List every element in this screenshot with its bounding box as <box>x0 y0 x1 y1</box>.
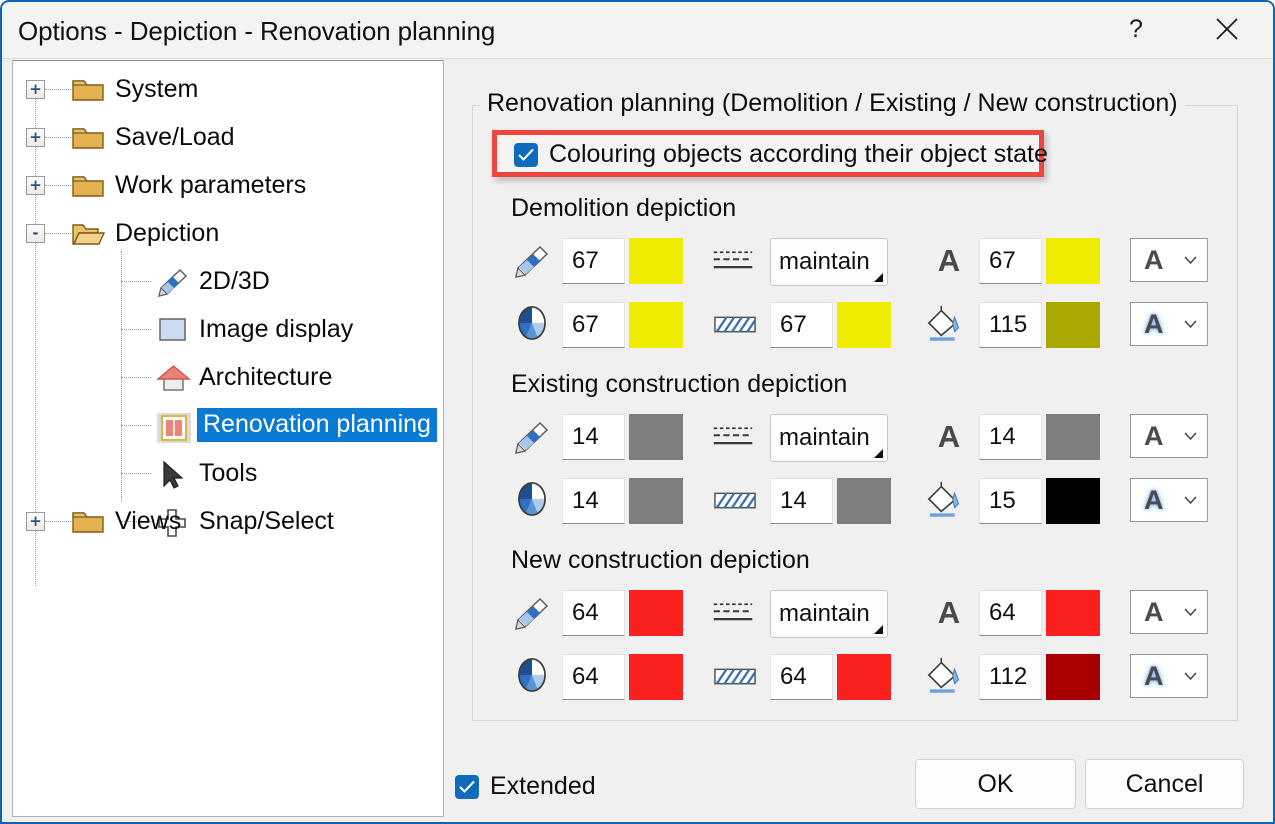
pen-width-input[interactable]: 14 <box>562 414 625 460</box>
linestyle-icon-cell <box>712 416 754 458</box>
colouring-objects-checkbox[interactable]: Colouring objects according their object… <box>514 140 1048 169</box>
tree-expander-system[interactable]: + <box>26 80 45 99</box>
sidebar-item-save-load[interactable]: Save/Load <box>71 117 235 157</box>
hatch-width-input[interactable]: 67 <box>770 302 833 348</box>
sidebar-item-tools[interactable]: Tools <box>155 453 257 493</box>
chevron-down-icon <box>1183 255 1198 265</box>
chevron-down-icon <box>874 273 883 282</box>
tree-connector <box>45 89 71 91</box>
text-icon-cell: A <box>928 592 970 634</box>
sidebar-item-label: Views <box>115 507 181 536</box>
hatch-color-swatch[interactable] <box>837 302 891 348</box>
sidebar-item-label: Save/Load <box>115 123 235 152</box>
bucket-icon-cell <box>926 654 968 696</box>
close-icon <box>1214 16 1240 42</box>
tree-connector <box>45 521 71 523</box>
sidebar-item-label: Depiction <box>115 219 219 248</box>
checkbox-checked-icon <box>514 143 538 167</box>
sidebar-item-image-display[interactable]: Image display <box>155 309 353 349</box>
font-A-icon: A <box>1144 485 1164 516</box>
bucket-color-swatch[interactable] <box>1046 654 1100 700</box>
line-style-icon <box>712 597 754 629</box>
chevron-down-icon <box>874 625 883 634</box>
sidebar-item-label: Architecture <box>199 363 332 392</box>
sidebar-item-architecture[interactable]: Architecture <box>155 357 332 397</box>
pen-width-input[interactable]: 64 <box>562 590 625 636</box>
chevron-down-icon <box>1183 319 1198 329</box>
sidebar-item-label: System <box>115 75 198 104</box>
color-wheel-icon <box>515 304 549 342</box>
tree-connector <box>121 281 151 283</box>
tree-connector <box>121 473 151 475</box>
sidebar-item-label: 2D/3D <box>199 267 270 296</box>
hatch-color-swatch[interactable] <box>837 478 891 524</box>
line-style-value: maintain <box>779 600 870 628</box>
font-A-icon: A <box>1144 597 1164 628</box>
sidebar-item-label: Snap/Select <box>199 507 334 536</box>
pen-icon-cell <box>511 240 553 282</box>
tree-connector <box>121 329 151 331</box>
font-A-icon: A <box>1144 421 1164 452</box>
pen-icon-cell <box>511 416 553 458</box>
hatch-pattern-icon <box>714 666 756 688</box>
chevron-down-icon <box>1183 431 1198 441</box>
plus-icon: + <box>29 82 42 97</box>
tree-expander-saveload[interactable]: + <box>26 128 45 147</box>
close-button[interactable] <box>1198 2 1256 56</box>
chevron-down-icon <box>1183 495 1198 505</box>
hatch-width-input[interactable]: 14 <box>770 478 833 524</box>
pen-color-swatch[interactable] <box>629 414 683 460</box>
line-style-icon <box>712 245 754 277</box>
fill-width-input[interactable]: 67 <box>562 302 625 348</box>
checkbox-checked-icon <box>455 775 479 799</box>
minus-icon: - <box>32 226 38 241</box>
line-style-icon <box>712 421 754 453</box>
paint-bucket-icon <box>926 654 968 696</box>
house-icon <box>155 363 189 391</box>
font-select-bottom[interactable]: A <box>1130 654 1208 698</box>
window-title: Options - Depiction - Renovation plannin… <box>18 16 495 47</box>
line-style-select[interactable]: maintain <box>770 414 888 462</box>
font-select-bottom[interactable]: A <box>1130 302 1208 346</box>
pencil-icon <box>513 420 551 454</box>
checkbox-label: Extended <box>490 772 596 801</box>
fill-color-swatch[interactable] <box>629 654 683 700</box>
text-pen-input[interactable]: 14 <box>979 414 1042 460</box>
font-select-top[interactable]: A <box>1130 238 1208 282</box>
linestyle-icon-cell <box>712 592 754 634</box>
sidebar-item-label: Renovation planning <box>197 408 437 442</box>
tree-expander-workparameters[interactable]: + <box>26 176 45 195</box>
fill-icon-cell <box>511 478 553 520</box>
text-icon-cell: A <box>928 416 970 458</box>
tree-expander-depiction[interactable]: - <box>26 224 45 243</box>
image-display-icon <box>155 315 189 343</box>
pen-icon-cell <box>511 592 553 634</box>
tree-connector <box>121 377 151 379</box>
pen-color-swatch[interactable] <box>629 238 683 284</box>
hatch-pattern-icon <box>714 314 756 336</box>
section-title-new-construction: New construction depiction <box>511 546 810 575</box>
bucket-pen-input[interactable]: 112 <box>979 654 1042 700</box>
bucket-icon-cell <box>926 478 968 520</box>
pencil-icon <box>513 596 551 630</box>
sidebar-item-snap-select[interactable]: Snap/Select <box>155 501 334 541</box>
plus-icon: + <box>29 514 42 529</box>
bucket-pen-input[interactable]: 15 <box>979 478 1042 524</box>
pencil-icon <box>513 244 551 278</box>
group-title: Renovation planning (Demolition / Existi… <box>480 89 1185 118</box>
font-select-top[interactable]: A <box>1130 590 1208 634</box>
sidebar-item-renovation-planning[interactable]: Renovation planning <box>155 405 437 445</box>
paint-bucket-icon <box>926 478 968 520</box>
hatch-icon-cell <box>714 480 756 522</box>
sidebar-item-work-parameters[interactable]: Work parameters <box>71 165 306 205</box>
paint-bucket-icon <box>926 302 968 344</box>
folder-open-icon <box>71 219 105 247</box>
title-bar: Options - Depiction - Renovation plannin… <box>2 2 1273 59</box>
bucket-pen-input[interactable]: 115 <box>979 302 1042 348</box>
fill-width-input[interactable]: 14 <box>562 478 625 524</box>
font-select-bottom[interactable]: A <box>1130 478 1208 522</box>
text-A-icon: A <box>938 595 960 631</box>
text-icon-cell: A <box>928 240 970 282</box>
plus-icon: + <box>29 178 42 193</box>
font-A-icon: A <box>1144 661 1164 692</box>
hatch-color-swatch[interactable] <box>837 654 891 700</box>
folder-closed-icon <box>71 123 105 151</box>
ok-button[interactable]: OK <box>915 759 1076 809</box>
chevron-down-icon <box>1183 671 1198 681</box>
text-color-swatch[interactable] <box>1046 590 1100 636</box>
color-wheel-icon <box>515 480 549 518</box>
tree-expander-views[interactable]: + <box>26 512 45 531</box>
folder-closed-icon <box>71 171 105 199</box>
help-button[interactable]: ? <box>1107 2 1165 56</box>
pen-color-swatch[interactable] <box>629 590 683 636</box>
line-style-value: maintain <box>779 248 870 276</box>
pen-width-input[interactable]: 67 <box>562 238 625 284</box>
hatch-icon-cell <box>714 304 756 346</box>
renovation-icon <box>155 411 189 439</box>
text-A-icon: A <box>938 419 960 455</box>
tree-connector <box>121 251 123 501</box>
font-select-top[interactable]: A <box>1130 414 1208 458</box>
text-pen-input[interactable]: 67 <box>979 238 1042 284</box>
sidebar-item-views[interactable]: Views <box>71 501 181 541</box>
fill-icon-cell <box>511 302 553 344</box>
sidebar-item-system[interactable]: System <box>71 69 198 109</box>
checkbox-label: Colouring objects according their object… <box>549 140 1048 169</box>
folder-closed-icon <box>71 507 105 535</box>
sidebar-item-2d3d[interactable]: 2D/3D <box>155 261 270 301</box>
settings-tree[interactable]: + + + - + System <box>12 60 444 817</box>
cursor-arrow-icon <box>155 459 189 487</box>
chevron-down-icon <box>1183 607 1198 617</box>
font-A-icon: A <box>1144 245 1164 276</box>
bucket-icon-cell <box>926 302 968 344</box>
fill-color-swatch[interactable] <box>629 478 683 524</box>
text-pen-input[interactable]: 64 <box>979 590 1042 636</box>
tree-connector <box>45 137 71 139</box>
linestyle-icon-cell <box>712 240 754 282</box>
sidebar-item-label: Work parameters <box>115 171 306 200</box>
extended-checkbox[interactable]: Extended <box>455 772 596 801</box>
line-style-select[interactable]: maintain <box>770 238 888 286</box>
plus-icon: + <box>29 130 42 145</box>
text-color-swatch[interactable] <box>1046 238 1100 284</box>
question-mark-icon: ? <box>1129 15 1143 44</box>
fill-icon-cell <box>511 654 553 696</box>
text-color-swatch[interactable] <box>1046 414 1100 460</box>
line-style-select[interactable]: maintain <box>770 590 888 638</box>
line-style-value: maintain <box>779 424 870 452</box>
folder-closed-icon <box>71 75 105 103</box>
sidebar-item-label: Image display <box>199 315 353 344</box>
tree-connector <box>45 233 71 235</box>
fill-width-input[interactable]: 64 <box>562 654 625 700</box>
sidebar-item-depiction[interactable]: Depiction <box>71 213 219 253</box>
cancel-button[interactable]: Cancel <box>1085 759 1244 809</box>
chevron-down-icon <box>874 449 883 458</box>
section-title-existing: Existing construction depiction <box>511 370 847 399</box>
bucket-color-swatch[interactable] <box>1046 302 1100 348</box>
font-A-icon: A <box>1144 309 1164 340</box>
options-dialog: Options - Depiction - Renovation plannin… <box>0 0 1275 824</box>
pencil-icon <box>155 267 189 295</box>
section-title-demolition: Demolition depiction <box>511 194 736 223</box>
fill-color-swatch[interactable] <box>629 302 683 348</box>
hatch-icon-cell <box>714 656 756 698</box>
hatch-width-input[interactable]: 64 <box>770 654 833 700</box>
bucket-color-swatch[interactable] <box>1046 478 1100 524</box>
tree-connector <box>45 185 71 187</box>
tree-connector <box>121 425 151 427</box>
hatch-pattern-icon <box>714 490 756 512</box>
text-A-icon: A <box>938 243 960 279</box>
color-wheel-icon <box>515 656 549 694</box>
sidebar-item-label: Tools <box>199 459 257 488</box>
